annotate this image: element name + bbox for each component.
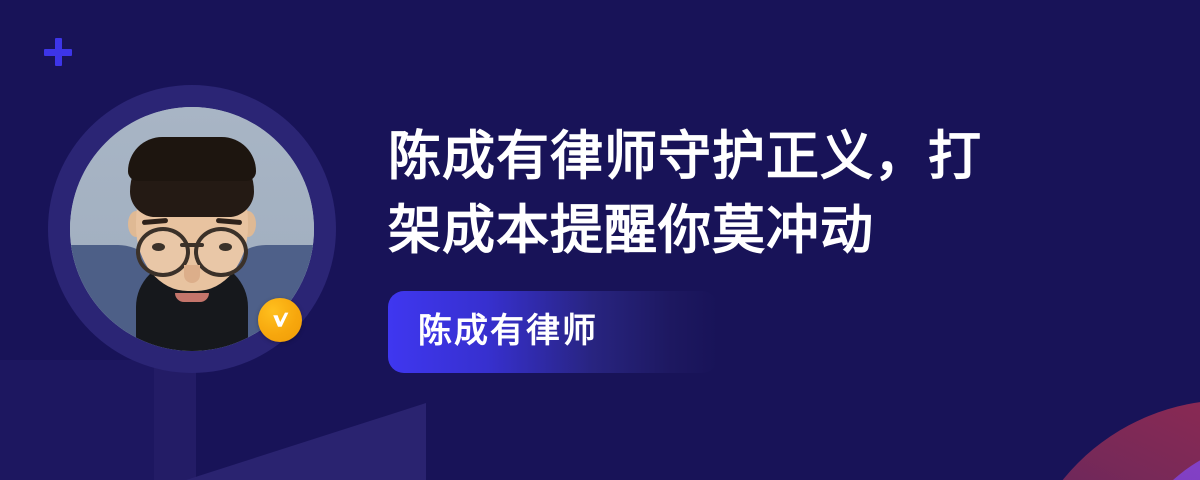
- avatar: [48, 85, 336, 373]
- decorative-circle-red: [1015, 400, 1200, 480]
- page-title: 陈成有律师守护正义，打 架成本提醒你莫冲动: [388, 120, 1048, 268]
- author-name-chip[interactable]: 陈成有律师: [388, 291, 718, 373]
- decorative-triangle-bottom-left: [186, 403, 426, 480]
- promo-banner: 陈成有律师守护正义，打 架成本提醒你莫冲动 陈成有律师: [0, 0, 1200, 480]
- verified-badge-icon: [258, 298, 302, 342]
- decorative-slab-bottom-left: [0, 360, 165, 480]
- plus-icon: [44, 38, 72, 66]
- text-content: 陈成有律师守护正义，打 架成本提醒你莫冲动 陈成有律师: [388, 120, 1088, 373]
